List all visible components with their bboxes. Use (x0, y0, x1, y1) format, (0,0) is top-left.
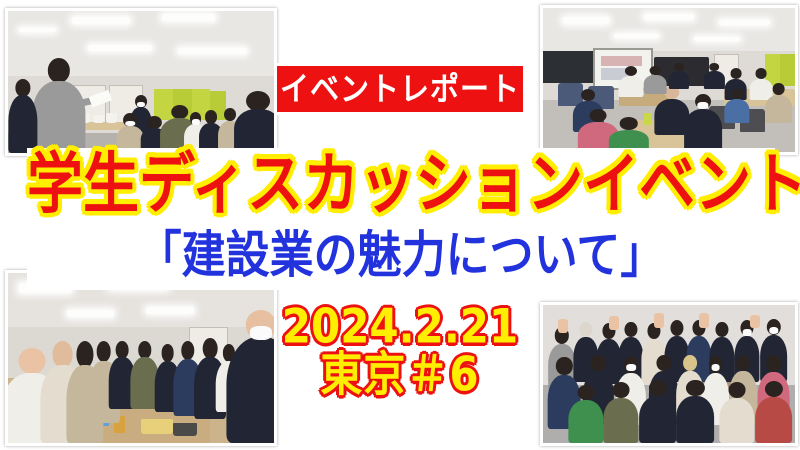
head (15, 79, 30, 97)
head (590, 109, 607, 122)
window (543, 51, 593, 83)
head (246, 91, 270, 111)
person-seated (669, 63, 689, 89)
page-subtitle: 「建設業の魅力について」 (27, 231, 775, 281)
page-title: 学生ディスカッションイベント (27, 152, 775, 218)
person-seated (765, 83, 793, 123)
ceiling-light (719, 20, 769, 26)
event-report-badge: イベントレポート (277, 66, 523, 112)
person-seated (724, 89, 749, 124)
person-seated (704, 63, 724, 89)
body (755, 397, 793, 443)
snack-tray (141, 419, 173, 434)
head (625, 66, 637, 76)
head (730, 68, 741, 78)
event-location: 東京＃6 (0, 351, 800, 398)
body (619, 76, 644, 98)
event-date: 2024.2.21 (0, 303, 800, 350)
body (32, 81, 85, 153)
head (619, 117, 638, 129)
ceiling-light (614, 34, 659, 38)
body (568, 400, 603, 443)
ceiling-light (644, 14, 694, 20)
badge-label: イベントレポート (280, 73, 520, 105)
title-banner: 学生ディスカッションイベント 「建設業の魅力について」 (27, 148, 775, 290)
person-attendee (8, 79, 37, 153)
event-info: 2024.2.21 東京＃6 (0, 306, 800, 396)
body (724, 99, 749, 123)
face-mask (126, 121, 136, 126)
head (772, 83, 785, 95)
body (8, 95, 37, 153)
cup (106, 113, 117, 123)
person-seated (644, 66, 667, 95)
photo-top-left (5, 8, 277, 156)
face-mask (137, 102, 145, 107)
photo-top-right-scene (543, 8, 795, 152)
head (47, 58, 69, 83)
head (674, 63, 684, 71)
ceiling-light (563, 17, 608, 24)
event-report-poster: イベントレポート 学生ディスカッションイベント 「建設業の魅力について」 202… (0, 0, 800, 450)
body (644, 75, 667, 95)
body (719, 398, 754, 443)
head (206, 110, 218, 123)
ceiling-light (88, 45, 152, 51)
body (765, 95, 793, 123)
cup (93, 115, 104, 124)
head (756, 68, 767, 78)
head (731, 89, 743, 99)
green-partition (780, 54, 795, 86)
ceiling-light (162, 14, 215, 21)
photo-top-right (540, 5, 798, 155)
slide-content (601, 56, 642, 66)
person-foreground (234, 91, 274, 153)
person-seated (684, 94, 722, 152)
ceiling-light (72, 17, 131, 24)
body (603, 398, 638, 443)
ceiling-light (178, 48, 247, 54)
body (639, 396, 677, 443)
head (710, 63, 720, 71)
body (669, 71, 689, 89)
ceiling-light (19, 28, 56, 32)
photo-top-left-scene (8, 11, 274, 153)
body (677, 396, 715, 443)
body (704, 71, 724, 89)
head (650, 66, 661, 75)
snack-tray (173, 423, 197, 437)
ceiling-light (694, 37, 739, 41)
person-seated (619, 66, 644, 98)
head (581, 89, 595, 101)
